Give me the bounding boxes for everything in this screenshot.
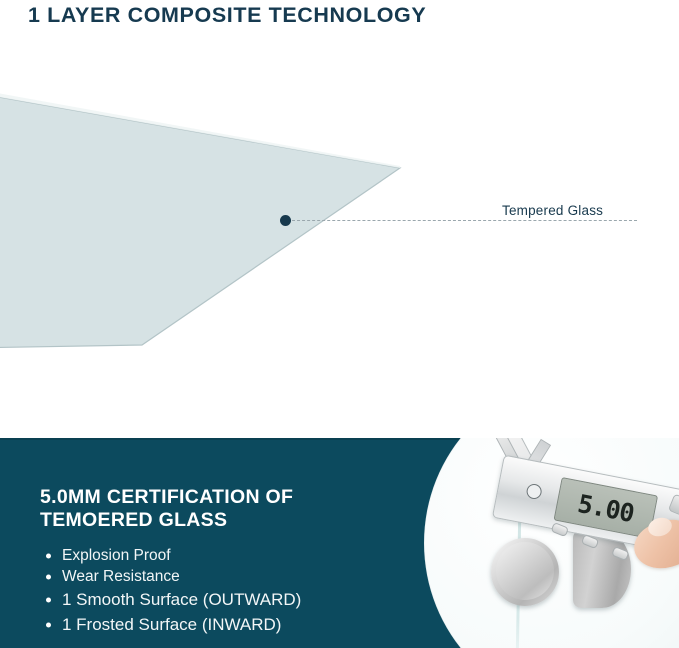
- product-photo: 5.00: [398, 438, 679, 648]
- feature-bullet-list: Explosion Proof Wear Resistance 1 Smooth…: [40, 546, 380, 637]
- caliper-button-zero: [551, 522, 570, 537]
- panel-heading: 5.0MM CERTIFICATION OF TEMOERED GLASS: [40, 486, 370, 532]
- list-item: 1 Frosted Surface (INWARD): [40, 612, 380, 637]
- caliper-button-onoff: [611, 546, 630, 561]
- caliper-thumbwheel: [668, 494, 679, 516]
- list-item: Explosion Proof: [40, 546, 380, 567]
- list-item: 1 Smooth Surface (OUTWARD): [40, 587, 380, 612]
- caliper-brand-badge-icon: [524, 482, 544, 502]
- bottom-teal-panel: 5.0MM CERTIFICATION OF TEMOERED GLASS Ex…: [0, 438, 679, 648]
- callout-dot-icon: [280, 215, 291, 226]
- caliper-button-unit: [581, 534, 600, 549]
- list-item: Wear Resistance: [40, 567, 380, 588]
- infographic-page: 1 LAYER COMPOSITE TECHNOLOGY Tempered Gl…: [0, 0, 679, 648]
- callout-label-tempered-glass: Tempered Glass: [502, 203, 603, 218]
- callout-leader-line: [292, 220, 637, 221]
- page-title: 1 LAYER COMPOSITE TECHNOLOGY: [28, 0, 426, 30]
- caliper-reading-value: 5.00: [575, 488, 636, 527]
- top-section: 1 LAYER COMPOSITE TECHNOLOGY Tempered Gl…: [0, 0, 679, 438]
